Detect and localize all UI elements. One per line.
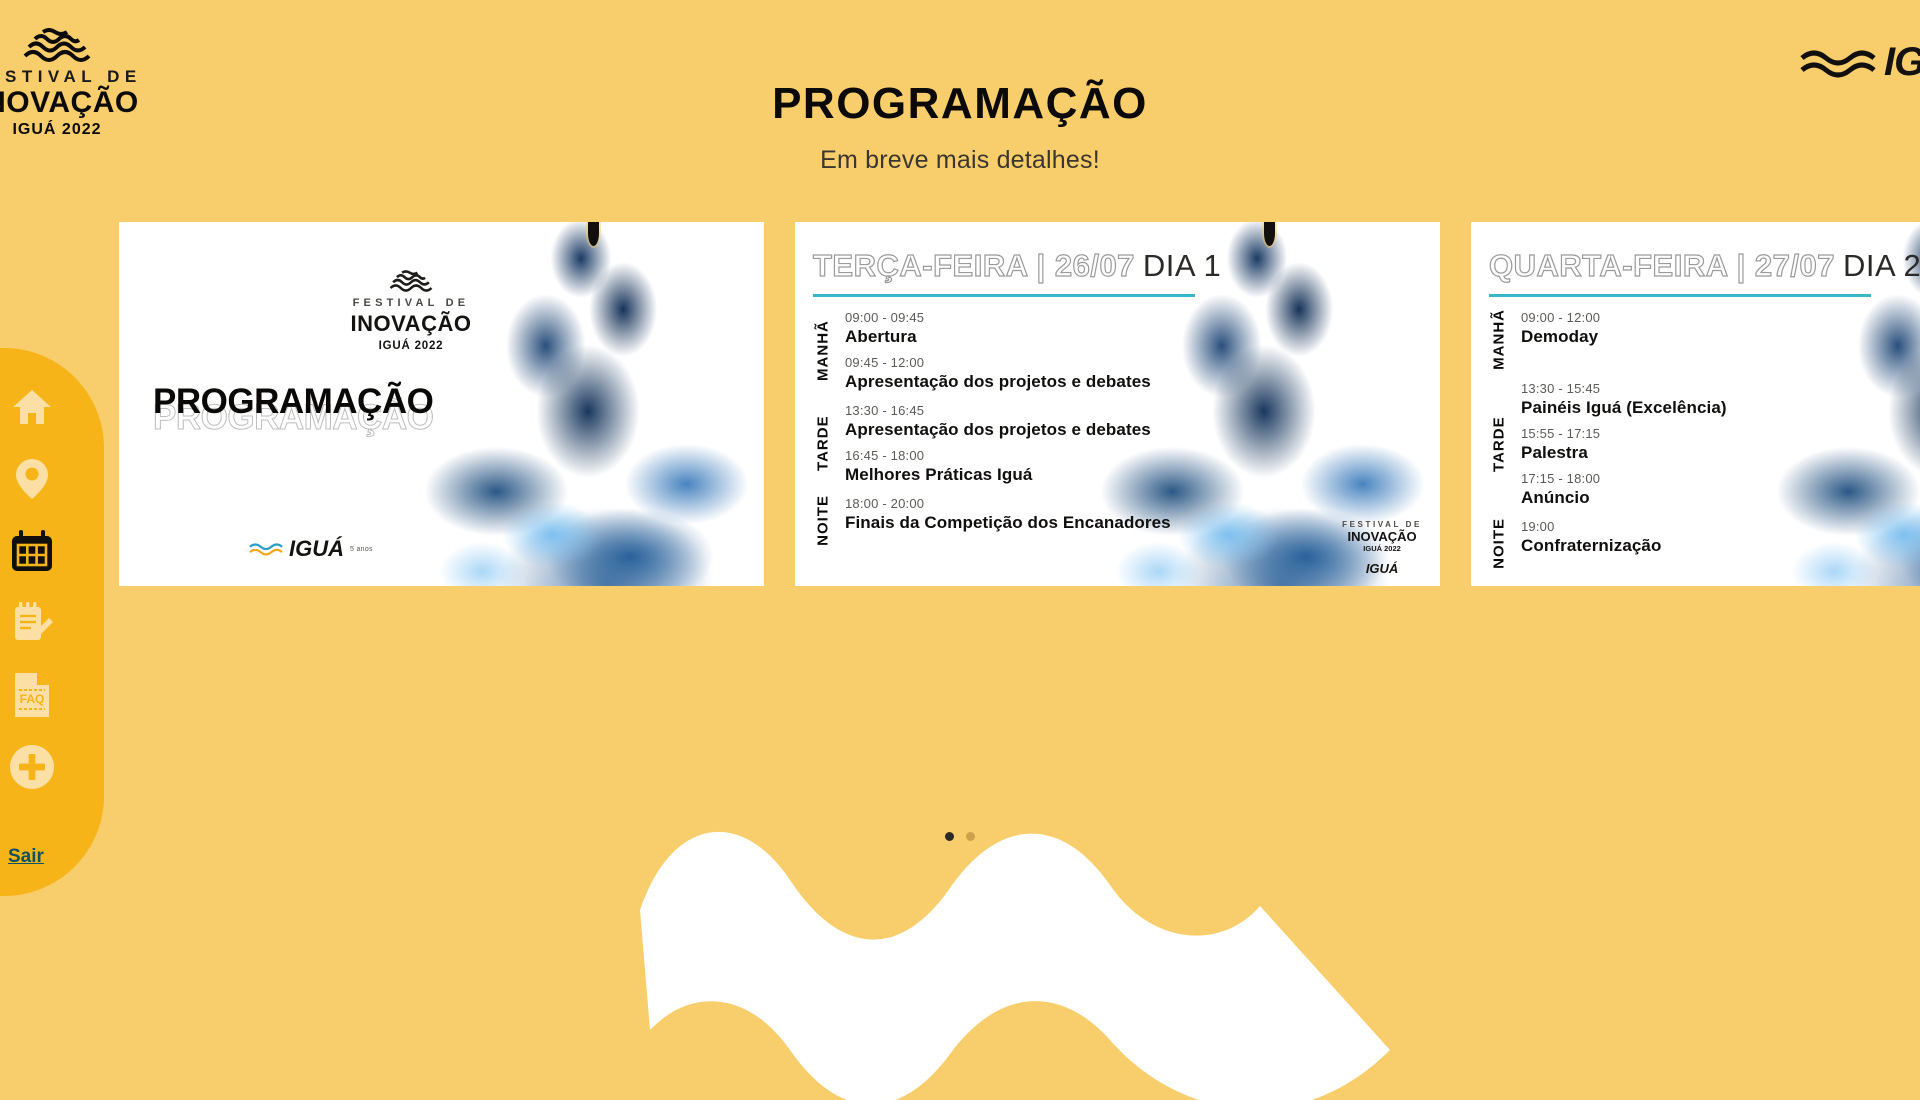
event-name: Abertura [845, 327, 1151, 347]
page-subtitle: Em breve mais detalhes! [0, 146, 1920, 175]
ink-drip-icon [588, 222, 599, 246]
event-name: Demoday [1521, 327, 1600, 347]
slide-footer-line1: FESTIVAL DE [1342, 520, 1422, 529]
programacao-carousel[interactable]: FESTIVAL DE INOVAÇÃO IGUÁ 2022 PROGRAMAÇ… [0, 222, 1920, 586]
schedule-day-number: DIA 2 [1843, 248, 1920, 283]
schedule-divider [813, 294, 1195, 297]
slide-cover-logo-line1: FESTIVAL DE [311, 297, 511, 309]
slide-cover-title-group: PROGRAMAÇÃO PROGRAMAÇÃO [153, 382, 493, 462]
bottom-wave-decoration [0, 720, 1920, 1100]
event-name: Anúncio [1521, 488, 1727, 508]
period-label: NOITE [813, 495, 833, 546]
event-name: Palestra [1521, 443, 1727, 463]
igua-waves-icon [249, 540, 283, 558]
igua-corner-wordmark: IGUÁ [1884, 40, 1920, 85]
carousel-slide-dia1[interactable]: TERÇA-FEIRA | 26/07DIA 1 MANHÃ 09:00 - 0… [795, 222, 1440, 586]
slide-cover-logo-line2: INOVAÇÃO [311, 311, 511, 337]
page-root: FESTIVAL DE INOVAÇÃO IGUÁ 2022 IGUÁ PROG… [0, 0, 1920, 1100]
schedule-event: 13:30 - 15:45 Painéis Iguá (Excelência) [1521, 382, 1727, 418]
igua-corner-logo: IGUÁ [1800, 40, 1920, 85]
event-name: Apresentação dos projetos e debates [845, 372, 1151, 392]
schedule-day-number: DIA 1 [1143, 248, 1221, 283]
schedule-event: 09:45 - 12:00 Apresentação dos projetos … [845, 356, 1151, 392]
event-name: Painéis Iguá (Excelência) [1521, 398, 1727, 418]
slide-cover-igua-sub: 5 anos [350, 546, 373, 553]
schedule-period: MANHÃ 09:00 - 12:00 Demoday [1489, 309, 1920, 370]
carousel-track: FESTIVAL DE INOVAÇÃO IGUÁ 2022 PROGRAMAÇ… [119, 222, 1920, 586]
period-label: MANHÃ [813, 309, 833, 392]
sidebar-item-faq[interactable]: FAQ [9, 672, 55, 718]
waves-icon [388, 270, 434, 292]
schedule-divider [1489, 294, 1871, 297]
event-time: 17:15 - 18:00 [1521, 472, 1727, 487]
slide-footer-igua-word: IGUÁ [1342, 561, 1422, 576]
period-label: NOITE [1489, 518, 1509, 569]
sidebar-item-register[interactable] [9, 600, 55, 646]
period-label: TARDE [1489, 380, 1509, 508]
slide-cover-igua-logo: IGUÁ 5 anos [249, 536, 373, 562]
schedule-day-label: TERÇA-FEIRA | 26/07 [813, 248, 1135, 283]
event-time: 13:30 - 15:45 [1521, 382, 1727, 397]
svg-text:FAQ: FAQ [20, 692, 45, 706]
schedule-body: MANHÃ 09:00 - 09:45 Abertura 09:45 - 12:… [813, 309, 1440, 546]
schedule-header: QUARTA-FEIRA | 27/07DIA 2 [1489, 248, 1920, 292]
event-time: 09:45 - 12:00 [845, 356, 1151, 371]
period-label: TARDE [813, 402, 833, 485]
schedule-body: MANHÃ 09:00 - 12:00 Demoday TARDE [1489, 309, 1920, 569]
event-name: Melhores Práticas Iguá [845, 465, 1151, 485]
slide-cover-igua-word: IGUÁ [289, 536, 344, 562]
event-time: 16:45 - 18:00 [845, 449, 1151, 464]
schedule-event: 09:00 - 09:45 Abertura [845, 311, 1151, 347]
period-label: MANHÃ [1489, 309, 1509, 370]
slide-cover-logo: FESTIVAL DE INOVAÇÃO IGUÁ 2022 [311, 270, 511, 352]
schedule-event: 09:00 - 12:00 Demoday [1521, 311, 1600, 347]
schedule-period: NOITE 19:00 Confraternização [1489, 518, 1920, 569]
schedule-event: 18:00 - 20:00 Finais da Competição dos E… [845, 497, 1171, 533]
page-title: PROGRAMAÇÃO [0, 82, 1920, 126]
carousel-slide-dia2[interactable]: QUARTA-FEIRA | 27/07DIA 2 MANHÃ 09:00 - … [1471, 222, 1920, 586]
event-time: 09:00 - 12:00 [1521, 311, 1600, 326]
notepad-pencil-icon [11, 602, 53, 644]
schedule-event: 16:45 - 18:00 Melhores Práticas Iguá [845, 449, 1151, 485]
event-time: 13:30 - 16:45 [845, 404, 1151, 419]
slide-cover-logo-line3: IGUÁ 2022 [311, 340, 511, 352]
event-name: Confraternização [1521, 536, 1661, 556]
schedule-period: TARDE 13:30 - 16:45 Apresentação dos pro… [813, 402, 1440, 485]
faq-document-icon: FAQ [13, 673, 51, 717]
schedule-period: MANHÃ 09:00 - 09:45 Abertura 09:45 - 12:… [813, 309, 1440, 392]
slide-cover-title: PROGRAMAÇÃO [153, 382, 433, 422]
igua-waves-icon [1800, 46, 1876, 80]
carousel-slide-cover[interactable]: FESTIVAL DE INOVAÇÃO IGUÁ 2022 PROGRAMAÇ… [119, 222, 764, 586]
slide-footer-logo: FESTIVAL DE INOVAÇÃO IGUÁ 2022 IGUÁ [1342, 520, 1422, 576]
schedule-dia2: QUARTA-FEIRA | 27/07DIA 2 MANHÃ 09:00 - … [1471, 222, 1920, 586]
schedule-event: 15:55 - 17:15 Palestra [1521, 427, 1727, 463]
schedule-event: 19:00 Confraternização [1521, 520, 1661, 556]
schedule-event: 17:15 - 18:00 Anúncio [1521, 472, 1727, 508]
slide-footer-line2: INOVAÇÃO [1342, 529, 1422, 544]
page-heading: PROGRAMAÇÃO Em breve mais detalhes! [0, 82, 1920, 175]
schedule-day-label: QUARTA-FEIRA | 27/07 [1489, 248, 1835, 283]
event-time: 18:00 - 20:00 [845, 497, 1171, 512]
schedule-header: TERÇA-FEIRA | 26/07DIA 1 [813, 248, 1440, 292]
event-time: 15:55 - 17:15 [1521, 427, 1727, 442]
event-time: 09:00 - 09:45 [845, 311, 1151, 326]
event-name: Finais da Competição dos Encanadores [845, 513, 1171, 533]
waves-icon [21, 28, 93, 62]
event-name: Apresentação dos projetos e debates [845, 420, 1151, 440]
slide-footer-line3: IGUÁ 2022 [1342, 544, 1422, 553]
event-time: 19:00 [1521, 520, 1661, 535]
schedule-period: TARDE 13:30 - 15:45 Painéis Iguá (Excelê… [1489, 380, 1920, 508]
schedule-event: 13:30 - 16:45 Apresentação dos projetos … [845, 404, 1151, 440]
